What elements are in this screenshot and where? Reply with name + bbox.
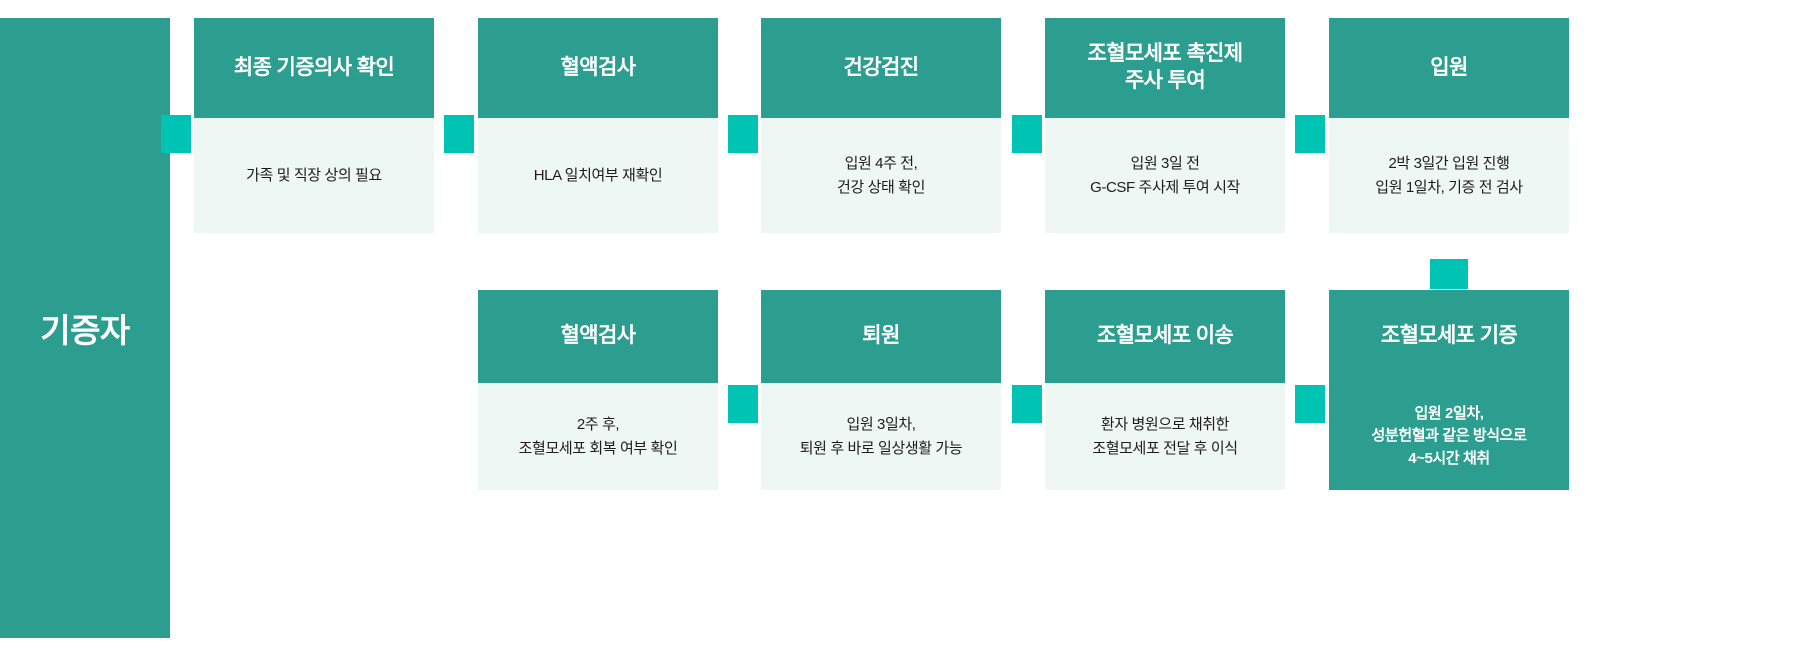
connector-step1-to-step2 <box>444 115 474 153</box>
connector-step2-to-step3 <box>728 115 758 153</box>
step-card-title: 퇴원 <box>761 290 1001 383</box>
step-card-blood-test-1[interactable]: 혈액검사 HLA 일치여부 재확인 <box>478 18 718 233</box>
step-card-title: 최종 기증의사 확인 <box>194 18 434 118</box>
step-card-body: 입원 3일차, 퇴원 후 바로 일상생활 가능 <box>761 383 1001 490</box>
step-card-body: 2주 후, 조혈모세포 회복 여부 확인 <box>478 383 718 490</box>
donor-rail: 기증자 <box>0 18 170 638</box>
step-card-body: 가족 및 직장 상의 필요 <box>194 118 434 233</box>
flowchart-canvas: 기증자 최종 기증의사 확인 가족 및 직장 상의 필요 혈액검사 HLA 일치… <box>0 0 1804 668</box>
step-card-title: 혈액검사 <box>478 18 718 118</box>
step-card-body: HLA 일치여부 재확인 <box>478 118 718 233</box>
step-card-body: 환자 병원으로 채취한 조혈모세포 전달 후 이식 <box>1045 383 1285 490</box>
step-card-final-consent[interactable]: 최종 기증의사 확인 가족 및 직장 상의 필요 <box>194 18 434 233</box>
connector-step7-to-step8 <box>1012 385 1042 423</box>
connector-rail-to-step1 <box>161 115 191 153</box>
step-card-admission[interactable]: 입원 2박 3일간 입원 진행 입원 1일차, 기증 전 검사 <box>1329 18 1569 233</box>
step-card-title: 조혈모세포 기증 <box>1329 290 1569 383</box>
donor-rail-label: 기증자 <box>40 304 130 352</box>
step-card-title: 입원 <box>1329 18 1569 118</box>
step-card-title: 조혈모세포 촉진제 주사 투여 <box>1045 18 1285 118</box>
step-card-body: 입원 4주 전, 건강 상태 확인 <box>761 118 1001 233</box>
step-card-title: 건강검진 <box>761 18 1001 118</box>
step-card-title: 혈액검사 <box>478 290 718 383</box>
step-card-blood-test-2[interactable]: 혈액검사 2주 후, 조혈모세포 회복 여부 확인 <box>478 290 718 490</box>
connector-step8-to-step9 <box>728 385 758 423</box>
connector-step5-to-step6-vertical <box>1430 259 1468 289</box>
step-card-health-checkup[interactable]: 건강검진 입원 4주 전, 건강 상태 확인 <box>761 18 1001 233</box>
step-card-body: 입원 3일 전 G-CSF 주사제 투여 시작 <box>1045 118 1285 233</box>
connector-step4-to-step5 <box>1295 115 1325 153</box>
step-card-body: 2박 3일간 입원 진행 입원 1일차, 기증 전 검사 <box>1329 118 1569 233</box>
step-card-body: 입원 2일차, 성분헌혈과 같은 방식으로 4~5시간 채취 <box>1329 383 1569 490</box>
step-card-title: 조혈모세포 이송 <box>1045 290 1285 383</box>
step-card-transport[interactable]: 조혈모세포 이송 환자 병원으로 채취한 조혈모세포 전달 후 이식 <box>1045 290 1285 490</box>
step-card-gcsf-injection[interactable]: 조혈모세포 촉진제 주사 투여 입원 3일 전 G-CSF 주사제 투여 시작 <box>1045 18 1285 233</box>
step-card-donation[interactable]: 조혈모세포 기증 입원 2일차, 성분헌혈과 같은 방식으로 4~5시간 채취 <box>1329 290 1569 490</box>
connector-step6-to-step7 <box>1295 385 1325 423</box>
connector-step3-to-step4 <box>1012 115 1042 153</box>
step-card-discharge[interactable]: 퇴원 입원 3일차, 퇴원 후 바로 일상생활 가능 <box>761 290 1001 490</box>
